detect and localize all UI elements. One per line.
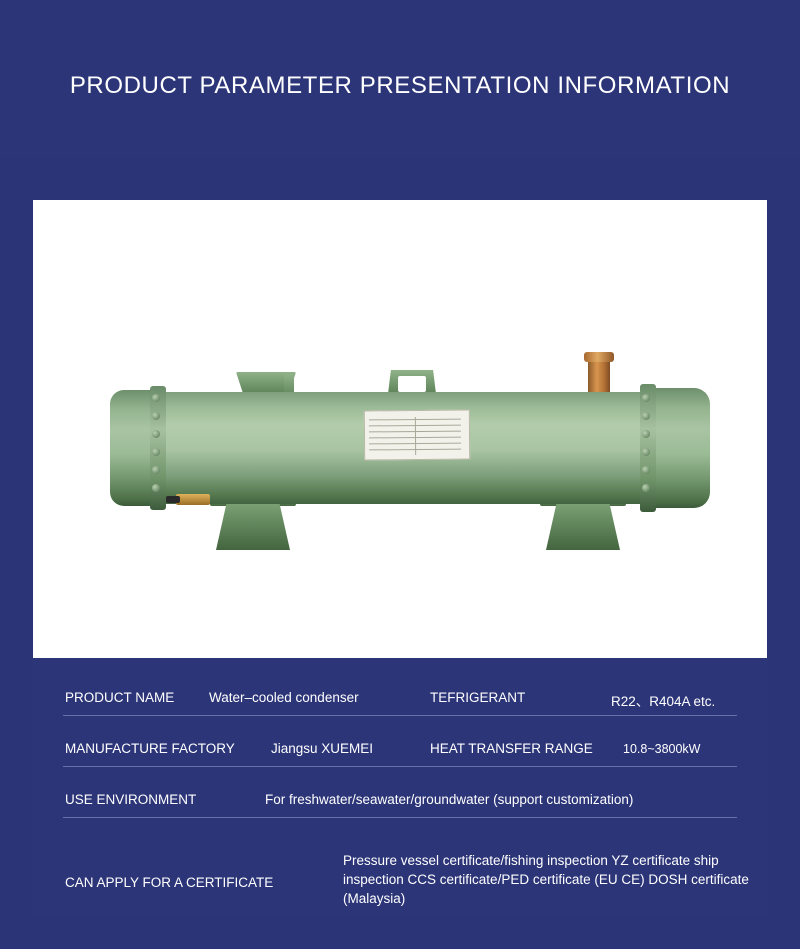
saddle-foot-left-leg xyxy=(216,504,290,550)
row-2-value-2: 10.8~3800kW xyxy=(623,742,700,756)
flange-bolt xyxy=(642,412,650,420)
row-3-label: USE ENVIRONMENT xyxy=(65,792,196,807)
row-4-value: Pressure vessel certificate/fishing insp… xyxy=(343,851,753,908)
product-parameter-page: PRODUCT PARAMETER PRESENTATION INFORMATI… xyxy=(0,0,800,949)
page-title: PRODUCT PARAMETER PRESENTATION INFORMATI… xyxy=(0,72,800,100)
row-divider-3 xyxy=(63,817,737,818)
flange-bolt xyxy=(642,448,650,456)
lifting-bracket-mid-inner xyxy=(398,376,426,392)
nameplate xyxy=(364,410,470,461)
copper-pipe-cap xyxy=(584,352,614,362)
row-divider-2 xyxy=(63,766,737,767)
flange-bolt xyxy=(152,466,160,474)
flange-bolt xyxy=(152,484,160,492)
row-2-label: MANUFACTURE FACTORY xyxy=(65,741,235,756)
row-1-label: PRODUCT NAME xyxy=(65,690,174,705)
flange-bolt xyxy=(642,430,650,438)
row-3-value: For freshwater/seawater/groundwater (sup… xyxy=(265,792,633,807)
flange-bolt xyxy=(642,466,650,474)
valve-tip xyxy=(166,496,180,503)
specification-table: PRODUCT NAME Water–cooled condenser TEFR… xyxy=(33,658,767,916)
row-2-value: Jiangsu XUEMEI xyxy=(271,741,373,756)
row-2-label-2: HEAT TRANSFER RANGE xyxy=(430,741,593,756)
flange-bolt xyxy=(152,412,160,420)
flange-bolt xyxy=(152,430,160,438)
valve-body xyxy=(176,494,210,505)
row-1-value: Water–cooled condenser xyxy=(209,690,359,705)
flange-bolt xyxy=(152,394,160,402)
row-1-label-2: TEFRIGERANT xyxy=(430,690,525,705)
flange-bolt xyxy=(642,394,650,402)
drain-valve xyxy=(166,492,222,510)
flange-bolt xyxy=(152,448,160,456)
flange-bolt xyxy=(642,484,650,492)
row-1-value-2: R22、R404A etc. xyxy=(611,690,715,710)
condenser-illustration xyxy=(88,340,718,570)
row-4-label: CAN APPLY FOR A CERTIFICATE xyxy=(65,875,273,890)
end-cap-right xyxy=(648,388,710,508)
row-divider-1 xyxy=(63,715,737,716)
product-photo xyxy=(33,200,767,658)
content-card: PRODUCT NAME Water–cooled condenser TEFR… xyxy=(33,200,767,916)
saddle-foot-right-leg xyxy=(546,504,620,550)
